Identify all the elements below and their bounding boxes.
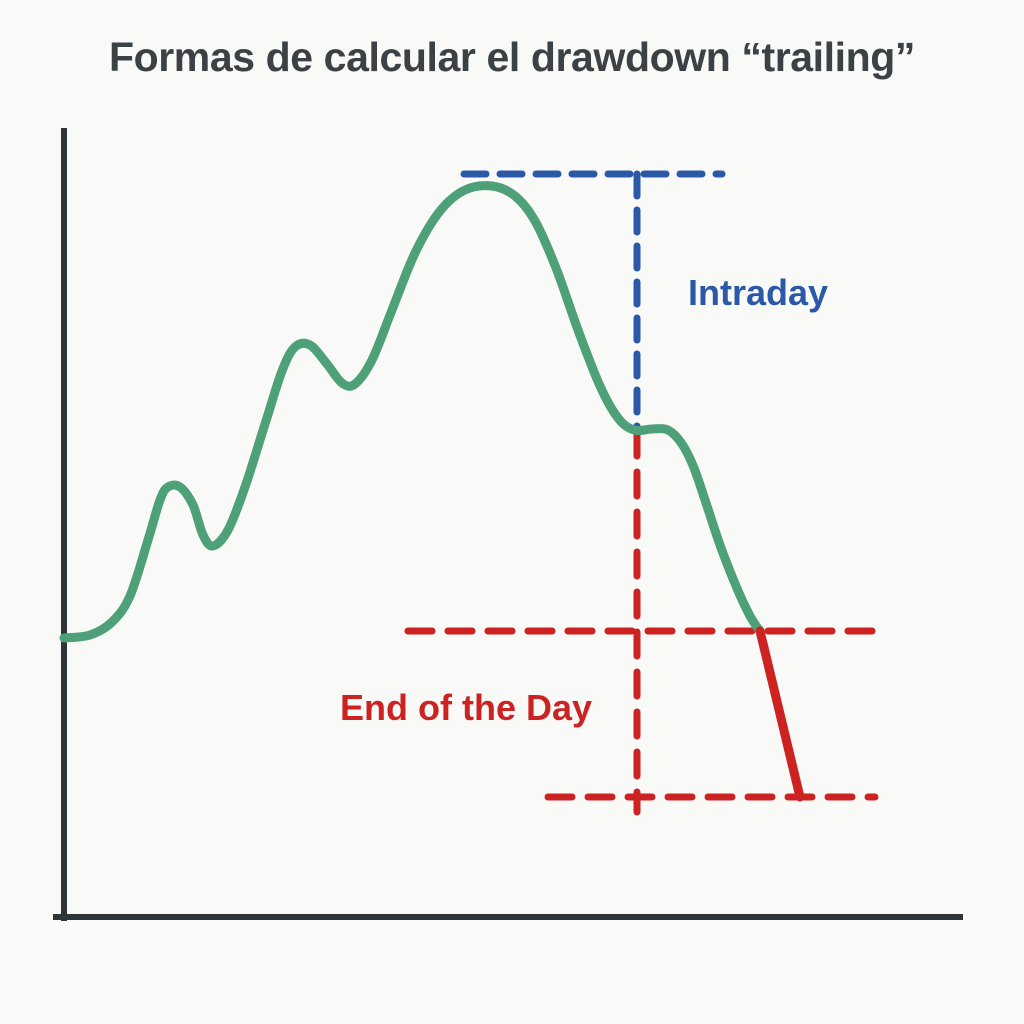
chart-figure: Formas de calcular el drawdown “trailing… [0, 0, 1024, 1024]
drawdown-chart [0, 0, 1024, 1024]
intraday-label: Intraday [688, 272, 828, 314]
chart-axes [56, 131, 960, 918]
end-of-day-drawdown-line [760, 631, 800, 797]
end-of-day-annotation-lines [408, 432, 875, 812]
intraday-annotation-lines [464, 174, 722, 432]
end-of-day-label: End of the Day [340, 687, 592, 729]
equity-curve-line [64, 186, 760, 638]
